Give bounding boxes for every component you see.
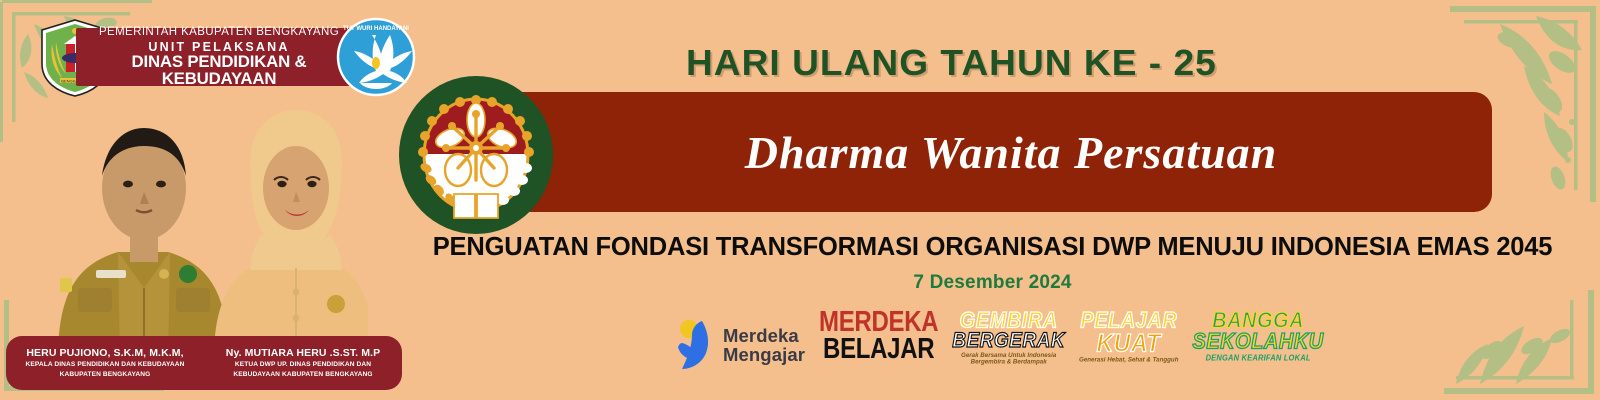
bangga-sekolahku-line-3: DENGAN KEARIFAN LOKAL — [1206, 354, 1311, 362]
anniversary-headline: HARI ULANG TAHUN KE - 25 — [686, 42, 1217, 84]
program-logo-strip: Merdeka Mengajar MERDEKA BELAJAR GEMBIRA… — [676, 312, 1324, 378]
logo-pelajar-kuat: PELAJAR KUAT Generasi Hebat, Sehat & Tan… — [1079, 311, 1178, 379]
logo-bangga-sekolahku: BANGGA SEKOLAHKU DENGAN KEARIFAN LOKAL — [1193, 311, 1324, 379]
vine-ornament-bottom-right-icon — [1420, 280, 1600, 400]
official-role-line-1: KETUA DWP UP. DINAS PENDIDIKAN DAN — [235, 361, 371, 369]
gov-line-3: DINAS PENDIDIKAN & KEBUDAYAAN — [73, 54, 365, 87]
gembira-bergerak-line-4: Bergembira & Berdampak — [971, 359, 1047, 365]
officials-nameplate: HERU PUJIONO, S.K.M, M.K.M, KEPALA DINAS… — [6, 336, 402, 390]
official-name: HERU PUJIONO, S.K.M, M.K.M, — [26, 347, 183, 359]
logo-gembira-bergerak: GEMBIRA BERGERAK Gerak Bersama Untuk Ind… — [952, 311, 1065, 379]
officials-photo — [18, 92, 368, 358]
organization-banner-bar: Dharma Wanita Persatuan — [490, 92, 1492, 212]
pelajar-kuat-line-3: Generasi Hebat, Sehat & Tangguh — [1079, 357, 1178, 363]
logo-merdeka-belajar: MERDEKA BELAJAR — [819, 308, 938, 381]
gembira-bergerak-line-2: BERGERAK — [952, 332, 1065, 352]
nameplate-entry-kepala-dinas: HERU PUJIONO, S.K.M, M.K.M, KEPALA DINAS… — [6, 336, 204, 390]
official-role-line-2: KABUPATEN BENGKAYANG — [60, 371, 151, 379]
event-date: 7 Desember 2024 — [385, 272, 1600, 294]
gov-line-2: UNIT PELAKSANA — [148, 41, 289, 54]
dharma-wanita-persatuan-emblem-icon — [398, 76, 554, 234]
merdeka-belajar-line-1: MERDEKA — [819, 308, 938, 335]
logo-merdeka-mengajar: Merdeka Mengajar — [676, 314, 805, 376]
banner-root: BENGKAYANG PEMERINTAH KABUPATEN BENGKAYA… — [0, 0, 1600, 400]
official-role-line-2: KEBUDAYAAN KABUPATEN BENGKAYANG — [233, 371, 372, 379]
pelajar-kuat-line-2: KUAT — [1097, 332, 1161, 356]
merdeka-mengajar-figure-icon — [676, 317, 716, 374]
nameplate-entry-ketua-dwp: Ny. MUTIARA HERU .S.ST. M.P KETUA DWP UP… — [204, 336, 402, 390]
merdeka-mengajar-line-1: Merdeka — [723, 326, 805, 345]
merdeka-mengajar-line-2: Mengajar — [723, 345, 805, 364]
official-name: Ny. MUTIARA HERU .S.ST. M.P — [226, 347, 380, 359]
event-theme: PENGUATAN FONDASI TRANSFORMASI ORGANISAS… — [385, 233, 1600, 262]
government-name-plate: PEMERINTAH KABUPATEN BENGKAYANG UNIT PEL… — [76, 28, 362, 86]
gov-line-1: PEMERINTAH KABUPATEN BENGKAYANG — [99, 27, 339, 39]
bangga-sekolahku-line-2: SEKOLAHKU — [1193, 332, 1324, 353]
merdeka-belajar-line-2: BELAJAR — [823, 336, 934, 363]
organization-name: Dharma Wanita Persatuan — [490, 92, 1492, 212]
official-role-line-1: KEPALA DINAS PENDIDIKAN DAN KEBUDAYAAN — [25, 361, 184, 369]
government-header: BENGKAYANG PEMERINTAH KABUPATEN BENGKAYA… — [18, 12, 418, 100]
svg-text:TUT WURI HANDAYANI: TUT WURI HANDAYANI — [343, 26, 409, 32]
